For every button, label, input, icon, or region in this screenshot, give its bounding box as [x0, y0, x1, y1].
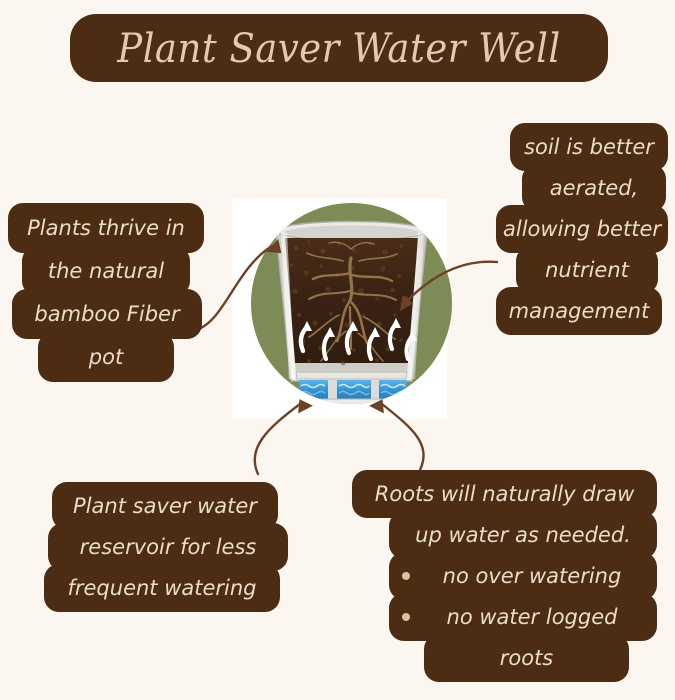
callout-bullet-continuation: roots	[424, 634, 629, 682]
callout-bullet-label: no over watering	[420, 566, 644, 587]
water-segment	[299, 380, 328, 401]
callout-line: frequent watering	[44, 564, 280, 612]
reservoir-divider	[296, 372, 407, 379]
page-title: Plant Saver Water Well	[117, 25, 561, 71]
callout-bullet-label: no water logged	[420, 607, 644, 628]
bamboo-fiber-pot-callout[interactable]: Plants thrive in the natural bamboo Fibe…	[8, 203, 204, 382]
pot-rim-inner	[285, 226, 419, 240]
soil-aeration-callout[interactable]: soil is better aerated, allowing better …	[496, 123, 668, 335]
bullet-dot-icon	[402, 572, 410, 580]
callout-line: pot	[38, 332, 174, 382]
title-banner: Plant Saver Water Well	[70, 14, 608, 82]
bullet-dot-icon	[402, 613, 410, 621]
pot-base	[295, 399, 408, 404]
water-reservoir-callout[interactable]: Plant saver water reservoir for less fre…	[38, 482, 292, 612]
water-reservoir	[299, 380, 407, 401]
roots-draw-water-callout[interactable]: Roots will naturally draw up water as ne…	[352, 470, 657, 682]
water-segment	[379, 380, 407, 401]
callout-line: management	[496, 287, 662, 335]
pot-svg	[251, 203, 452, 404]
pot-illustration	[251, 203, 452, 404]
infographic-root: Plant Saver Water Well	[0, 0, 675, 700]
water-segment	[337, 380, 371, 401]
